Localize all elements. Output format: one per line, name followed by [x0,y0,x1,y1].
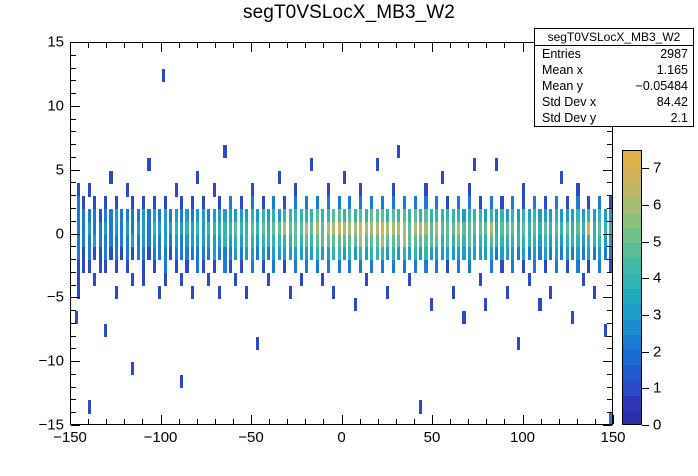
heatmap-cell [289,209,292,222]
heatmap-cell [223,235,226,248]
heatmap-cell [414,222,417,235]
heatmap-cell [538,235,541,248]
axis-tick [305,43,306,48]
heatmap-cell [566,222,569,235]
heatmap-cell [147,235,150,248]
heatmap-cell [332,235,335,248]
heatmap-cell [213,209,216,222]
heatmap-cell [169,222,172,235]
heatmap-cell [115,222,118,235]
heatmap-cell [571,235,574,248]
axis-tick [124,43,125,48]
axis-tick [450,419,451,424]
axis-tick [106,43,107,48]
axis-tick [287,419,288,424]
heatmap-cell [202,260,205,273]
heatmap-cell [327,183,330,196]
heatmap-cell [321,273,324,286]
color-scale-step [623,380,641,396]
heatmap-cell [251,260,254,273]
heatmap-cell [245,235,248,248]
heatmap-cell [267,209,270,222]
axis-tick [607,182,612,183]
heatmap-cell [435,260,438,273]
heatmap-cell [424,196,427,209]
heatmap-cell [457,209,460,222]
heatmap-cell [495,222,498,235]
heatmap-cell [576,235,579,248]
axis-tick [179,43,180,48]
z-tick-label: 0 [653,417,661,434]
heatmap-cell [267,235,270,248]
heatmap-cell [294,260,297,273]
heatmap-cell [164,235,167,248]
axis-tick [215,43,216,48]
heatmap-cell [137,209,140,222]
heatmap-cell [234,247,237,260]
axis-tick [71,221,76,222]
axis-tick [607,412,612,413]
heatmap-cell [191,196,194,209]
color-scale-step [623,197,641,213]
heatmap-cell [327,196,330,209]
heatmap-cell [419,400,422,413]
heatmap-cell [484,235,487,248]
heatmap-cell [234,235,237,248]
heatmap-cell [327,260,330,273]
heatmap-cell [430,247,433,260]
heatmap-cell [88,260,91,273]
heatmap-cell [272,235,275,248]
x-tick-label: −150 [53,429,87,446]
heatmap-cell [370,247,373,260]
axis-tick [71,106,80,107]
axis-tick [607,374,612,375]
heatmap-cell [283,222,286,235]
axis-tick [486,43,487,48]
axis-tick [607,348,612,349]
heatmap-cell [435,222,438,235]
heatmap-cell [582,222,585,235]
heatmap-cell [457,222,460,235]
heatmap-cell [544,222,547,235]
heatmap-cell [343,171,346,184]
heatmap-cell [511,235,514,248]
heatmap-cell [576,183,579,196]
heatmap-cell [142,222,145,235]
heatmap-cell [82,235,85,248]
heatmap-cell [229,260,232,273]
heatmap-cell [104,247,107,260]
axis-tick [71,157,76,158]
heatmap-cell [82,222,85,235]
heatmap-cell [376,209,379,222]
heatmap-cell [245,222,248,235]
heatmap-cell [582,209,585,222]
heatmap-cell [593,247,596,260]
heatmap-cell [484,247,487,260]
heatmap-cell [278,247,281,260]
axis-tick [71,323,76,324]
z-tick [642,388,649,389]
axis-tick [559,419,560,424]
axis-tick [504,43,505,48]
heatmap-cell [99,222,102,235]
stats-row: Mean y−0.05484 [535,78,693,94]
heatmap-cell [126,260,129,273]
heatmap-cell [468,260,471,273]
heatmap-cell [479,273,482,286]
heatmap-cell [386,235,389,248]
color-scale-step [623,273,641,289]
heatmap-cell [218,286,221,299]
heatmap-cell [158,209,161,222]
heatmap-cell [82,247,85,260]
axis-tick [71,246,76,247]
heatmap-cell [538,298,541,311]
heatmap-cell [77,247,80,260]
heatmap-cell [278,209,281,222]
axis-tick [71,412,76,413]
heatmap-cell [441,209,444,222]
heatmap-cell [479,196,482,209]
axis-tick [215,419,216,424]
heatmap-cell [495,235,498,248]
heatmap-cell [109,222,112,235]
heatmap-cell [115,247,118,260]
heatmap-cell [479,235,482,248]
stats-value: 2.1 [671,111,688,125]
heatmap-cell [131,247,134,260]
heatmap-cell [479,247,482,260]
axis-tick [432,415,433,424]
root-canvas: segT0VSLocX_MB3_W2 −15−10−5051015 −150−1… [0,0,698,476]
heatmap-cell [419,235,422,248]
heatmap-cell [446,235,449,248]
heatmap-cell [267,247,270,260]
heatmap-cell [131,235,134,248]
heatmap-cell [555,196,558,209]
heatmap-cell [272,196,275,209]
heatmap-cell [245,286,248,299]
heatmap-cell [283,247,286,260]
heatmap-cell [283,209,286,222]
heatmap-cell [196,260,199,273]
heatmap-cell [462,209,465,222]
heatmap-cell [262,209,265,222]
stats-value: 2987 [660,47,688,61]
heatmap-cell [310,209,313,222]
heatmap-cell [310,235,313,248]
heatmap-cell [300,273,303,286]
heatmap-cell [386,209,389,222]
heatmap-cell [598,247,601,260]
heatmap-cell [528,235,531,248]
color-scale-step [623,227,641,243]
heatmap-cell [175,247,178,260]
heatmap-cell [153,235,156,248]
heatmap-cell [468,247,471,260]
color-scale-step [623,258,641,274]
heatmap-cell [522,183,525,196]
heatmap-cell [180,235,183,248]
heatmap-cell [555,222,558,235]
heatmap-cell [223,260,226,273]
axis-tick [396,43,397,48]
heatmap-cell [343,222,346,235]
heatmap-cell [392,235,395,248]
heatmap-cell [207,235,210,248]
heatmap-cell [77,183,80,196]
heatmap-cell [365,209,368,222]
heatmap-cell [555,260,558,273]
heatmap-cell [538,222,541,235]
heatmap-cell [522,196,525,209]
heatmap-cell [593,209,596,222]
heatmap-cell [506,235,509,248]
heatmap-cell [397,222,400,235]
heatmap-cell [397,209,400,222]
axis-tick [71,234,80,235]
heatmap-cell [587,222,590,235]
heatmap-cell [397,145,400,158]
color-scale-step [623,243,641,259]
axis-tick [360,419,361,424]
axis-tick [607,285,612,286]
heatmap-cell [162,69,165,82]
heatmap-cell [207,247,210,260]
heatmap-cell [408,247,411,260]
plot-frame [70,42,613,425]
heatmap-cell [289,286,292,299]
heatmap-cell [218,247,221,260]
heatmap-cell [560,222,563,235]
heatmap-cell [397,247,400,260]
axis-tick [142,419,143,424]
heatmap-cell [500,235,503,248]
heatmap-cell [218,235,221,248]
heatmap-cell [180,375,183,388]
heatmap-cell [566,235,569,248]
heatmap-cell [185,260,188,273]
heatmap-cell [359,247,362,260]
heatmap-cell [528,247,531,260]
axis-tick [71,68,76,69]
heatmap-cell [403,196,406,209]
heatmap-cell [435,196,438,209]
axis-tick [607,272,612,273]
x-tick-label: 50 [424,429,441,446]
heatmap-cell [376,222,379,235]
heatmap-cell [153,247,156,260]
axis-tick [233,43,234,48]
heatmap-cell [587,260,590,273]
heatmap-cell [338,222,341,235]
heatmap-cell [99,260,102,273]
z-tick [642,425,649,426]
heatmap-cells [71,43,612,424]
heatmap-cell [544,209,547,222]
heatmap-cell [185,222,188,235]
heatmap-cell [354,222,357,235]
heatmap-cell [115,235,118,248]
heatmap-cell [452,222,455,235]
axis-tick [468,43,469,48]
heatmap-cell [272,209,275,222]
heatmap-cell [359,183,362,196]
heatmap-cell [506,209,509,222]
z-tick [642,352,649,353]
heatmap-cell [587,196,590,209]
heatmap-cell [506,286,509,299]
heatmap-cell [376,158,379,171]
heatmap-cell [223,209,226,222]
heatmap-cell [555,209,558,222]
heatmap-cell [262,196,265,209]
heatmap-cell [131,209,134,222]
axis-tick [71,144,76,145]
color-scale-step [623,334,641,350]
heatmap-cell [392,247,395,260]
heatmap-cell [511,222,514,235]
heatmap-cell [430,209,433,222]
heatmap-cell [490,235,493,248]
heatmap-cell [533,222,536,235]
heatmap-cell [196,171,199,184]
heatmap-cell [386,247,389,260]
heatmap-cell [354,209,357,222]
axis-tick [179,419,180,424]
axis-tick [71,119,76,120]
heatmap-cell [283,260,286,273]
heatmap-cell [511,209,514,222]
heatmap-cell [137,222,140,235]
heatmap-cell [462,311,465,324]
axis-tick [607,310,612,311]
heatmap-cell [126,235,129,248]
heatmap-cell [147,158,150,171]
axis-tick [607,208,612,209]
axis-tick [342,415,343,424]
heatmap-cell [511,247,514,260]
heatmap-cell [300,222,303,235]
heatmap-cell [142,209,145,222]
heatmap-cell [175,209,178,222]
axis-tick [323,419,324,424]
heatmap-cell [414,196,417,209]
heatmap-cell [185,247,188,260]
heatmap-cell [435,209,438,222]
heatmap-cell [392,260,395,273]
z-tick [642,242,649,243]
heatmap-cell [147,209,150,222]
heatmap-cell [164,273,167,286]
heatmap-cell [223,247,226,260]
heatmap-cell [500,260,503,273]
axis-tick [251,415,252,424]
axis-tick [607,246,612,247]
stats-key: Std Dev x [542,95,596,109]
heatmap-cell [414,247,417,260]
heatmap-cell [316,222,319,235]
heatmap-cell [544,260,547,273]
heatmap-cell [289,222,292,235]
axis-tick [71,387,76,388]
heatmap-cell [278,171,281,184]
heatmap-cell [93,235,96,248]
axis-tick [106,419,107,424]
heatmap-cell [549,222,552,235]
heatmap-cell [533,235,536,248]
heatmap-cell [419,222,422,235]
axis-tick [342,43,343,52]
heatmap-cell [99,209,102,222]
axis-tick [607,259,612,260]
heatmap-cell [430,298,433,311]
axis-tick [607,157,612,158]
heatmap-cell [77,196,80,209]
heatmap-cell [300,235,303,248]
heatmap-cell [300,209,303,222]
axis-tick [603,361,612,362]
heatmap-cell [142,196,145,209]
heatmap-cell [283,235,286,248]
axis-tick [595,419,596,424]
heatmap-cell [452,286,455,299]
axis-tick [607,144,612,145]
heatmap-cell [99,235,102,248]
heatmap-cell [365,273,368,286]
heatmap-cell [576,260,579,273]
heatmap-cell [93,222,96,235]
heatmap-cell [229,222,232,235]
heatmap-cell [245,209,248,222]
axis-tick [88,43,89,48]
heatmap-cell [490,209,493,222]
heatmap-cell [278,222,281,235]
heatmap-cell [234,273,237,286]
heatmap-cell [446,222,449,235]
heatmap-cell [522,260,525,273]
heatmap-cell [354,298,357,311]
heatmap-cell [109,209,112,222]
heatmap-cell [82,196,85,209]
heatmap-cell [294,183,297,196]
heatmap-cell [403,247,406,260]
heatmap-cell [93,209,96,222]
z-tick [642,168,649,169]
heatmap-cell [82,209,85,222]
color-scale-step [623,182,641,198]
color-scale-bar[interactable] [622,150,642,425]
heatmap-cell [343,209,346,222]
heatmap-cell [490,247,493,260]
statistics-box[interactable]: segT0VSLocX_MB3_W2 Entries2987Mean x1.16… [534,28,694,127]
heatmap-cell [126,222,129,235]
color-scale-step [623,395,641,411]
axis-tick [88,419,89,424]
heatmap-cell [370,260,373,273]
heatmap-cell [566,209,569,222]
y-tick-label: 5 [56,161,64,178]
heatmap-cell [338,235,341,248]
heatmap-cell [120,247,123,260]
heatmap-cell [126,209,129,222]
x-tick-label: 100 [510,429,535,446]
heatmap-cell [522,209,525,222]
heatmap-cell [294,196,297,209]
heatmap-cell [240,222,243,235]
